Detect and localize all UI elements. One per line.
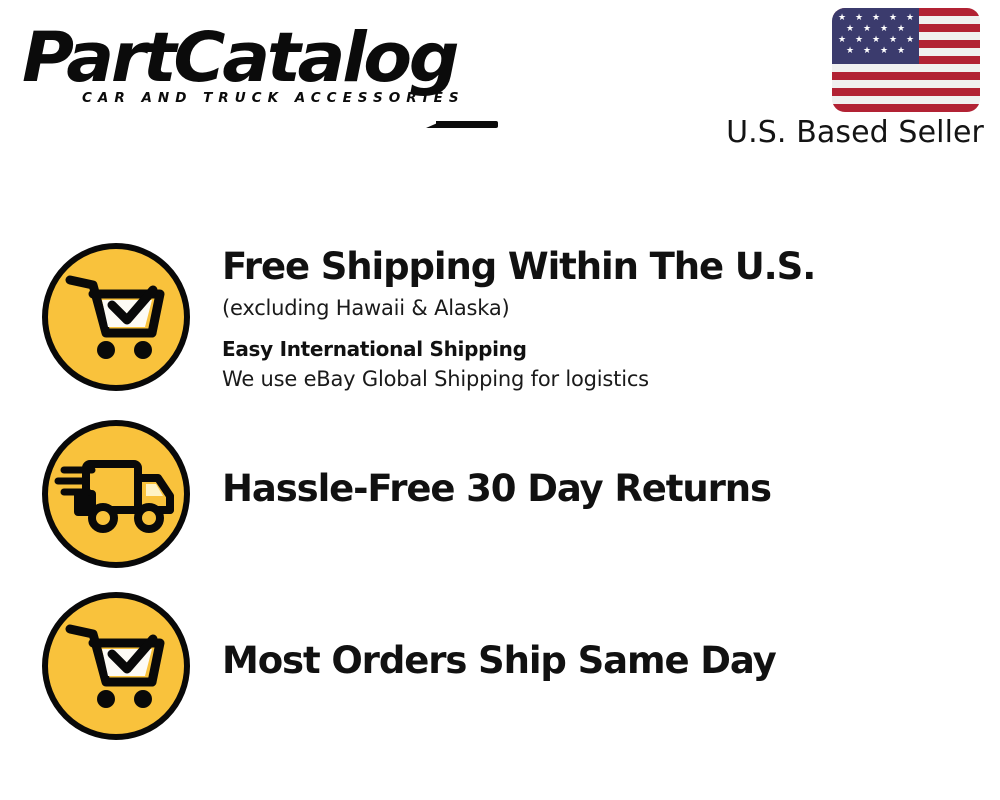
delivery-truck-icon	[42, 420, 190, 568]
brand-wordmark: PartCatalog	[22, 22, 506, 94]
feature-secondary-title: Easy International Shipping	[222, 335, 982, 363]
feature-title: Free Shipping Within The U.S.	[222, 245, 982, 289]
feature-row: Most Orders Ship Same Day	[42, 592, 982, 740]
flag-canton: ★ ★ ★ ★ ★ ★ ★ ★ ★ ★ ★ ★ ★ ★ ★ ★ ★ ★	[832, 8, 919, 64]
feature-subtitle: (excluding Hawaii & Alaska)	[222, 293, 982, 323]
us-based-seller-label: U.S. Based Seller	[714, 115, 986, 151]
feature-title: Most Orders Ship Same Day	[222, 639, 982, 683]
feature-title: Hassle-Free 30 Day Returns	[222, 467, 982, 511]
us-based-seller-badge: ★ ★ ★ ★ ★ ★ ★ ★ ★ ★ ★ ★ ★ ★ ★ ★ ★ ★ U.S.…	[714, 8, 986, 151]
feature-secondary-subtitle: We use eBay Global Shipping for logistic…	[222, 365, 982, 393]
us-flag-icon: ★ ★ ★ ★ ★ ★ ★ ★ ★ ★ ★ ★ ★ ★ ★ ★ ★ ★	[832, 8, 980, 112]
feature-text: Most Orders Ship Same Day	[190, 592, 982, 683]
brand-swoosh-icon	[426, 117, 498, 129]
feature-text: Free Shipping Within The U.S. (excluding…	[190, 243, 982, 393]
brand-logo: PartCatalog CAR AND TRUCK ACCESSORIES	[22, 22, 492, 120]
promo-banner: PartCatalog CAR AND TRUCK ACCESSORIES ★ …	[0, 0, 1000, 800]
feature-row: Hassle-Free 30 Day Returns	[42, 420, 982, 568]
feature-text: Hassle-Free 30 Day Returns	[190, 420, 982, 511]
feature-row: Free Shipping Within The U.S. (excluding…	[42, 243, 982, 393]
cart-check-icon	[42, 243, 190, 391]
cart-check-icon	[42, 592, 190, 740]
